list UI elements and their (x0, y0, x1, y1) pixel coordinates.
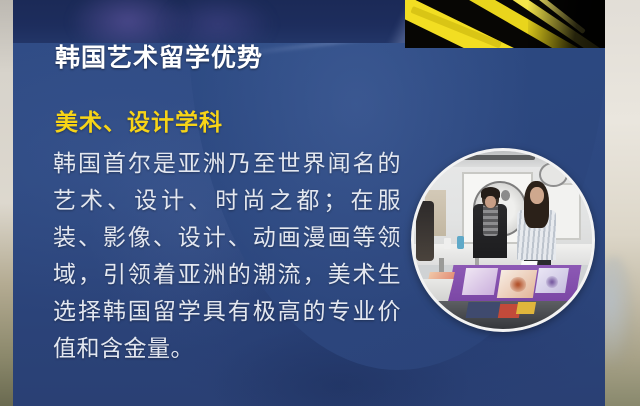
black-accent-panel (405, 0, 605, 48)
photo-foreground-object (516, 302, 536, 314)
photo-artwork-ink (546, 276, 558, 288)
violet-wash-decoration (163, 0, 273, 43)
photo-person-left-face (485, 196, 496, 208)
page-title: 韩国艺术留学优势 (55, 38, 263, 74)
photo-artwork-ink (510, 277, 526, 291)
photo-ceiling-track (453, 155, 535, 161)
slide-screenshot: 韩国艺术留学优势 美术、设计学科 韩国首尔是亚洲乃至世界闻名的艺术、设计、时尚之… (0, 0, 640, 406)
photo-cup (444, 238, 451, 249)
photo-foreground-object (466, 302, 501, 318)
black-panel-shadow (528, 0, 605, 48)
photo-artwork-detail (501, 190, 510, 201)
circular-photo (411, 148, 595, 332)
photo-artwork-sheet (462, 268, 498, 295)
photo-person-right-face (530, 187, 544, 205)
photo-bottle (457, 236, 464, 248)
body-paragraph: 韩国首尔是亚洲乃至世界闻名的艺术、设计、时尚之都；在服装、影像、设计、动画漫画等… (53, 145, 401, 367)
photo-person-background (416, 201, 434, 262)
section-subtitle: 美术、设计学科 (55, 103, 223, 137)
photo-person-left-scarf (483, 204, 497, 236)
presentation-slide: 韩国艺术留学优势 美术、设计学科 韩国首尔是亚洲乃至世界闻名的艺术、设计、时尚之… (13, 0, 605, 406)
